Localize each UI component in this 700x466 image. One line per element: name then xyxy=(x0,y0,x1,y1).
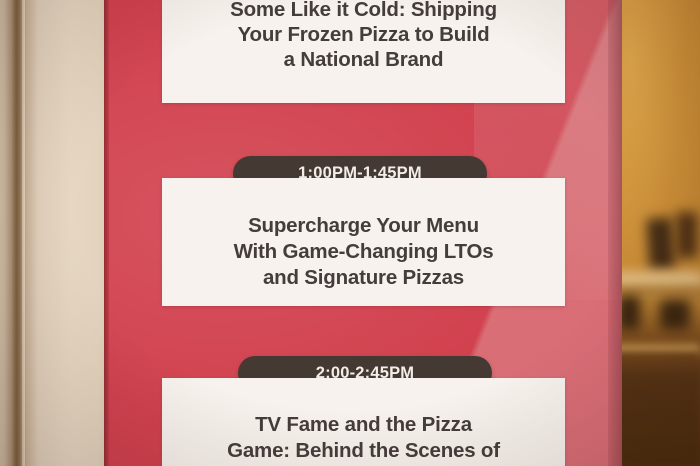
session-title-line: Your Frozen Pizza to Build xyxy=(230,22,497,47)
session-panel-2: Supercharge Your Menu With Game-Changing… xyxy=(162,178,565,306)
session-title-1: Some Like it Cold: Shipping Your Frozen … xyxy=(230,0,497,72)
session-title-3: TV Fame and the Pizza Game: Behind the S… xyxy=(227,386,500,466)
background-chair-shape xyxy=(646,217,676,271)
session-title-line: With Game-Changing LTOs xyxy=(234,239,494,265)
session-title-line: and Signature Pizzas xyxy=(234,265,494,291)
banner-right-edge xyxy=(608,0,622,466)
session-panel-1: Some Like it Cold: Shipping Your Frozen … xyxy=(162,0,565,103)
session-panel-3: TV Fame and the Pizza Game: Behind the S… xyxy=(162,378,565,466)
background-furniture-shape-2 xyxy=(660,300,690,330)
banner-left-edge xyxy=(104,0,109,466)
session-title-line: a National Brand xyxy=(230,47,497,72)
background-table-shape xyxy=(614,272,700,288)
session-title-line: TV Fame and the Pizza xyxy=(227,412,500,438)
session-title-line: Supercharge Your Menu xyxy=(234,213,494,239)
photo-scene: Some Like it Cold: Shipping Your Frozen … xyxy=(0,0,700,466)
wall-seam-highlight xyxy=(22,0,25,466)
session-title-2: Supercharge Your Menu With Game-Changing… xyxy=(234,193,494,291)
background-chair-shape-2 xyxy=(676,212,698,258)
session-title-line: Some Like it Cold: Shipping xyxy=(230,0,497,22)
session-title-line: Game: Behind the Scenes of xyxy=(227,438,500,464)
